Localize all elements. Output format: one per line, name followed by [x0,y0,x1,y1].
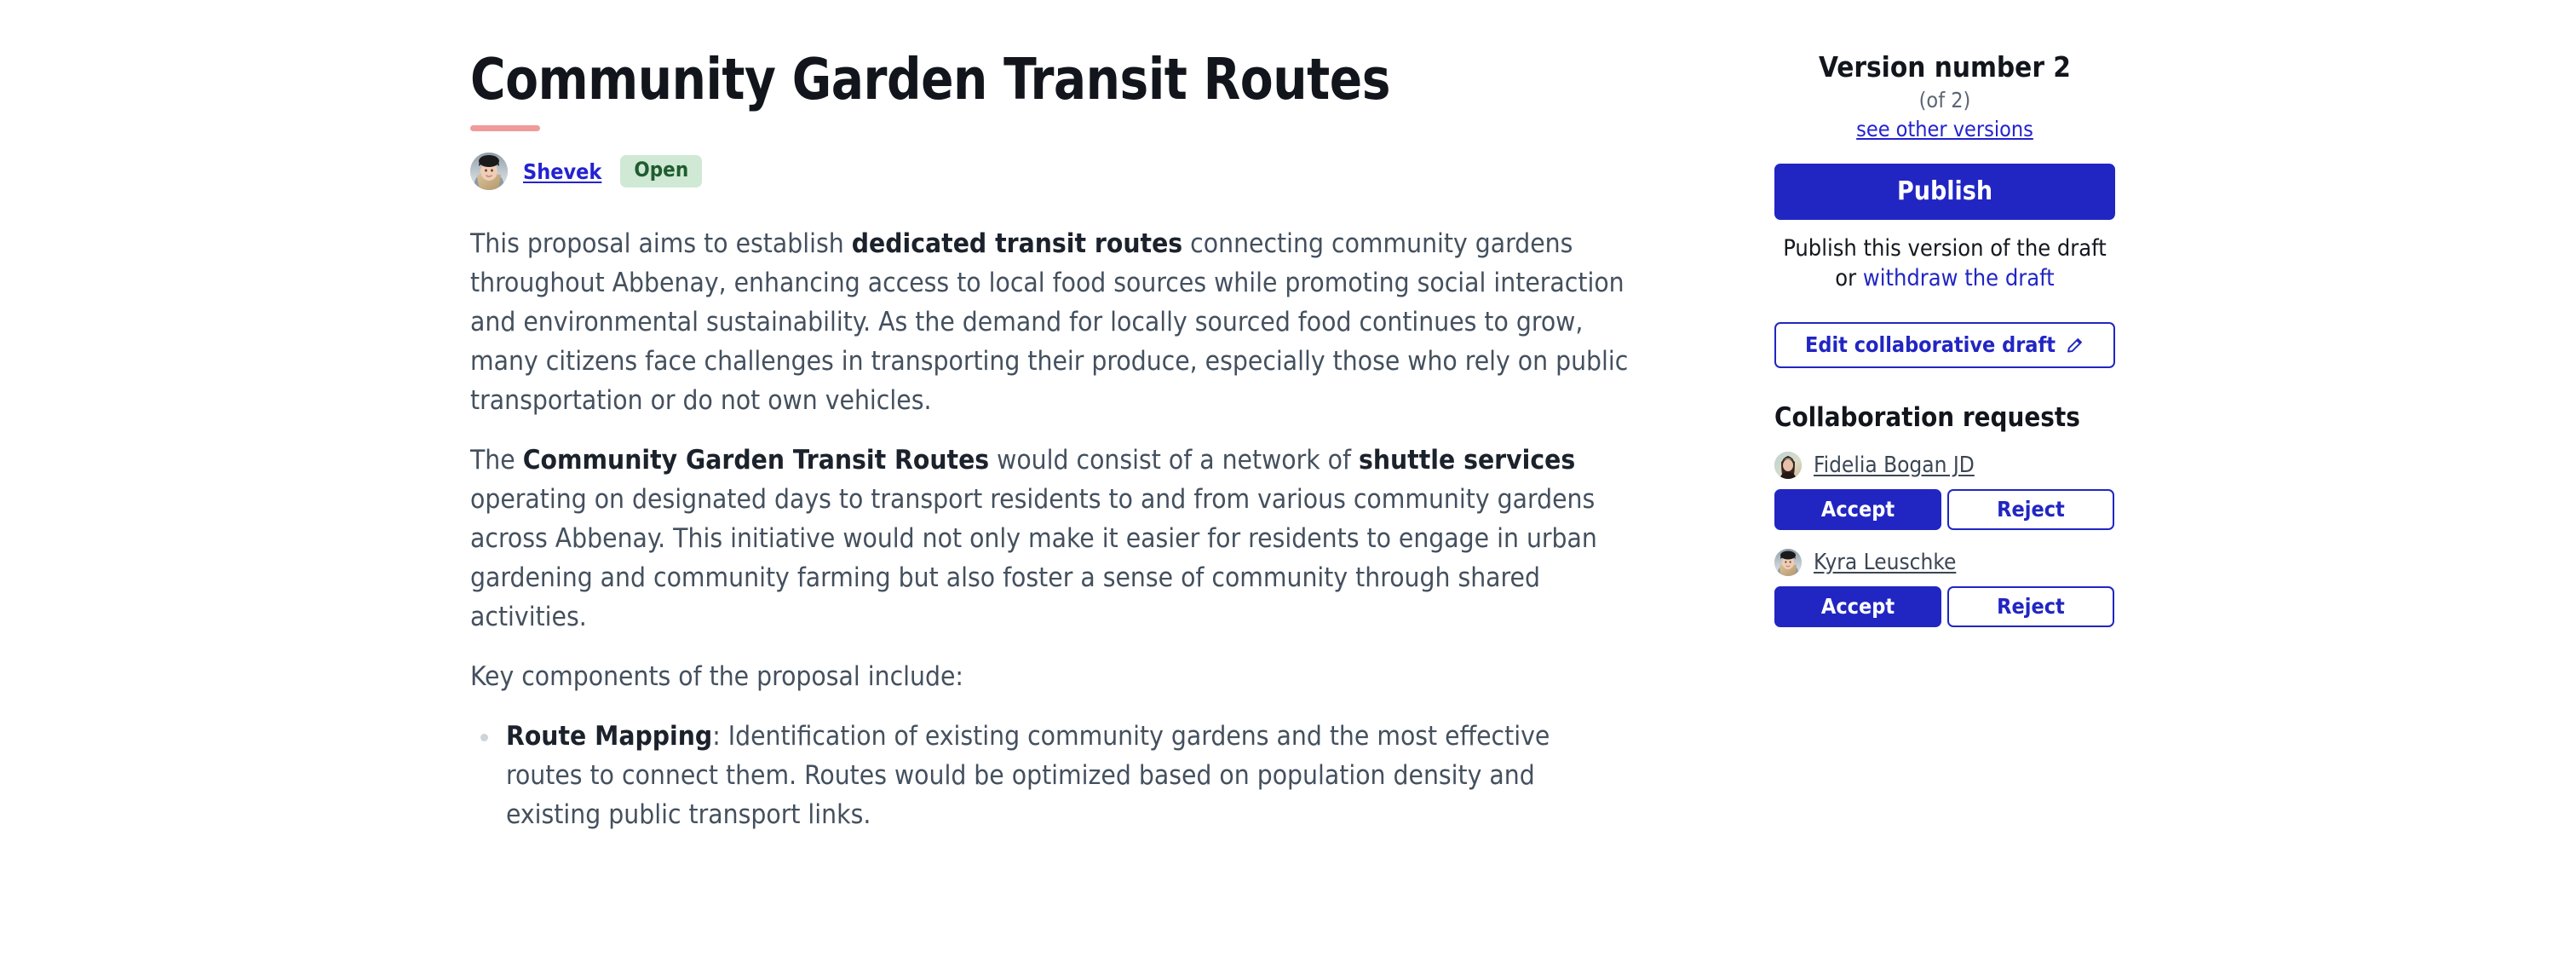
bold-text-run: Community Garden Transit Routes [523,445,989,476]
accept-button[interactable]: Accept [1774,586,1941,627]
avatar [470,153,508,190]
edit-collaborative-draft-label: Edit collaborative draft [1805,332,2056,357]
title-accent-bar [470,125,540,131]
collaboration-request-person: Fidelia Bogan JD [1774,452,2115,479]
paragraph-list: This proposal aims to establish dedicate… [470,224,1629,696]
collaboration-request-item: Kyra LeuschkeAcceptReject [1774,549,2115,627]
body-paragraph: Key components of the proposal include: [470,657,1629,696]
body-paragraph: This proposal aims to establish dedicate… [470,224,1629,420]
collaboration-request-actions: AcceptReject [1774,586,2115,627]
bold-text-run: Route Mapping [506,721,712,752]
accept-button[interactable]: Accept [1774,489,1941,530]
version-title: Version number 2 [1774,51,2115,84]
bold-text-run: dedicated transit routes [852,228,1182,259]
document-page: Community Garden Transit Routes [0,0,2576,980]
text-run: would consist of a network of [989,445,1359,476]
collaboration-requests-list: Fidelia Bogan JDAcceptRejectKyra Leuschk… [1774,452,2115,627]
document-sidebar: Version number 2 (of 2) see other versio… [1774,0,2115,627]
pencil-icon [2066,336,2084,355]
publish-button[interactable]: Publish [1774,164,2115,220]
collaboration-request-actions: AcceptReject [1774,489,2115,530]
document-main-column: Community Garden Transit Routes [470,0,1629,853]
collaboration-request-person: Kyra Leuschke [1774,549,2115,576]
list-item: Route Mapping: Identification of existin… [470,717,1629,834]
text-run: The [470,445,523,476]
version-block: Version number 2 (of 2) see other versio… [1774,0,2115,141]
bold-text-run: shuttle services [1359,445,1575,476]
see-other-versions-link[interactable]: see other versions [1856,117,2033,141]
status-badge: Open [620,155,702,187]
edit-collaborative-draft-button[interactable]: Edit collaborative draft [1774,322,2115,368]
document-body: This proposal aims to establish dedicate… [470,224,1629,834]
text-run: operating on designated days to transpor… [470,484,1597,632]
collaborator-link[interactable]: Fidelia Bogan JD [1814,453,1975,478]
publish-note: Publish this version of the draft or wit… [1774,233,2115,293]
version-subtitle: (of 2) [1774,88,2115,113]
avatar [1774,452,1802,479]
text-run: Key components of the proposal include: [470,661,963,692]
reject-button[interactable]: Reject [1947,489,2114,530]
collaboration-request-item: Fidelia Bogan JDAcceptReject [1774,452,2115,530]
withdraw-draft-link[interactable]: withdraw the draft [1863,265,2055,291]
avatar [1774,549,1802,576]
collaborator-link[interactable]: Kyra Leuschke [1814,550,1956,575]
collaboration-requests-heading: Collaboration requests [1774,402,2115,433]
author-row: Shevek Open [470,153,1629,190]
page-title: Community Garden Transit Routes [470,0,1559,108]
author-link[interactable]: Shevek [523,159,601,184]
reject-button[interactable]: Reject [1947,586,2114,627]
key-components-list: Route Mapping: Identification of existin… [470,717,1629,834]
text-run: This proposal aims to establish [470,228,852,259]
body-paragraph: The Community Garden Transit Routes woul… [470,441,1629,637]
